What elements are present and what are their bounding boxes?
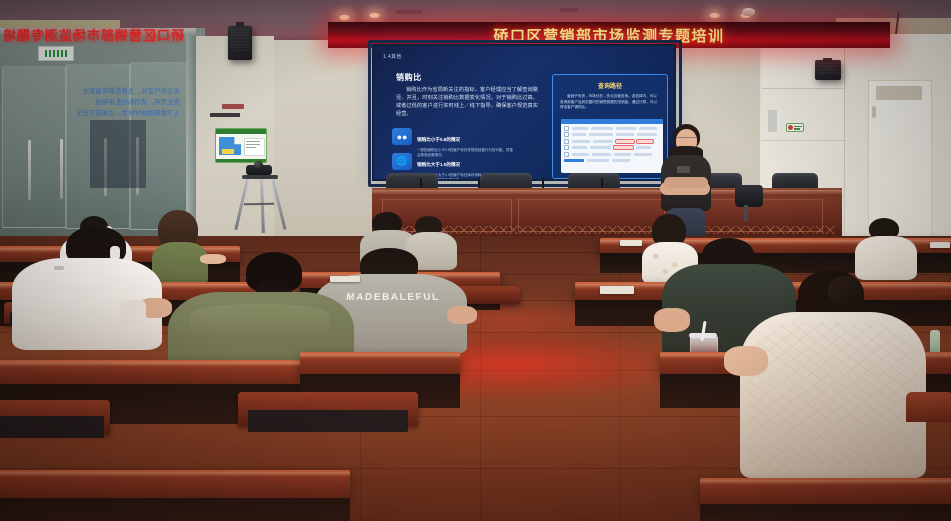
slide-title: 销购比 (396, 72, 422, 83)
training-room-photo: 硚口区营销部市场监测专题培训 关注天气变化，注意防暑降温安全 安全用电，请勿私拉… (0, 0, 951, 521)
chair-cushion (0, 416, 104, 438)
wall-speaker-right (815, 60, 841, 80)
notebook (620, 240, 642, 246)
lace-pattern (748, 322, 918, 472)
glass-notice-line: 关注天气变化，注意防暑降温安全 (10, 86, 180, 97)
led-reflection-text: 硚口区营销部市场监测专题培训 (4, 28, 184, 44)
glass-notice-line: 上下楼梯请扶好扶手，注意脚下安全 (10, 108, 180, 119)
glass-dark-reflection (90, 120, 146, 188)
slide-right-panel-title: 查询路径 (553, 81, 667, 90)
wall-speaker-left (228, 26, 252, 60)
head-table (372, 188, 842, 238)
evacuation-plan-sign (215, 128, 267, 163)
wall-logo-bar (210, 113, 240, 117)
presenter-name-badge (677, 166, 690, 173)
slide-kicker: 1.4其他 (383, 53, 402, 60)
slide-bullet-heading: 销购比小于0.8的情况 (417, 137, 460, 142)
camera-lens-icon (254, 161, 263, 169)
glass-door-handle-icon[interactable] (28, 140, 31, 200)
ceiling-downlight (368, 12, 381, 19)
chair-stem (744, 205, 748, 221)
desk-row (300, 352, 460, 376)
hair-bun (828, 276, 862, 306)
wall-text-strip (768, 110, 777, 132)
attendee-lace-top (740, 270, 930, 480)
wall-logo (222, 104, 244, 109)
notebook (330, 276, 360, 282)
exit-sign (38, 46, 74, 61)
attendee (120, 300, 190, 370)
chair-arm (906, 392, 951, 422)
ceiling-camera-icon (742, 8, 755, 16)
led-banner-text: 硚口区营销部市场监测专题培训 (493, 25, 724, 46)
wall-panel-seam (762, 140, 844, 141)
notebook (930, 242, 950, 248)
speaker-bracket (823, 58, 832, 63)
slide-screenshot (561, 119, 663, 173)
slide-paragraph: 销购比作为省局新关注的指标，客户经理应当了解查询路径、并且，时刻关注销购比数据变… (396, 86, 538, 118)
wall-notice-sign (786, 123, 804, 132)
coins-icon: ●● (392, 128, 412, 145)
ceiling-downlight (708, 12, 721, 19)
ceiling-downlight (338, 14, 351, 21)
door-transom (876, 86, 922, 100)
office-chair (735, 185, 763, 207)
slide-surface: 1.4其他 销购比 销购比作为省局新关注的指标，客户经理应当了解查询路径、并且，… (374, 46, 674, 179)
glass-notice-block: 关注天气变化，注意防暑降温安全 安全用电，请勿私拉乱接电线 上下楼梯请扶好扶手，… (10, 86, 180, 119)
projection-screen: 1.4其他 销购比 销购比作为省局新关注的指标，客户经理应当了解查询路径、并且，… (372, 44, 676, 181)
wall-panel-seam (762, 88, 844, 89)
slide-right-panel-paragraph: 营销子系统→市场分析→多点自营查询。该选择内，可以查询到客户及其范围内的销售数据… (560, 94, 660, 111)
jacket-hood (190, 304, 330, 334)
speaker-bracket (236, 22, 244, 27)
globe-icon: 🌐 (392, 153, 412, 170)
glass-door-handle-icon[interactable] (60, 139, 63, 199)
shirt-logo (54, 266, 64, 270)
slide-right-panel: 查询路径 营销子系统→市场分析→多点自营查询。该选择内，可以查询到客户及其范围内… (552, 74, 668, 179)
desk-row (0, 470, 350, 500)
desk-front-panel (700, 504, 951, 521)
glasses-icon (677, 137, 696, 142)
chair-cushion (248, 410, 408, 432)
desk-front-panel (0, 498, 350, 521)
led-reflection: 硚口区营销部市场监测专题培训 (4, 28, 184, 44)
glass-notice-line: 安全用电，请勿私拉乱接电线 (10, 97, 180, 108)
desk-row (700, 478, 951, 506)
door-handle-icon[interactable] (872, 106, 876, 118)
ceiling-vent (396, 10, 422, 14)
slide-bullet-heading: 销购比大于1.0的情况 (417, 162, 460, 167)
notebook (600, 286, 634, 294)
ceiling-vent (560, 8, 578, 12)
door-frame (186, 30, 196, 230)
